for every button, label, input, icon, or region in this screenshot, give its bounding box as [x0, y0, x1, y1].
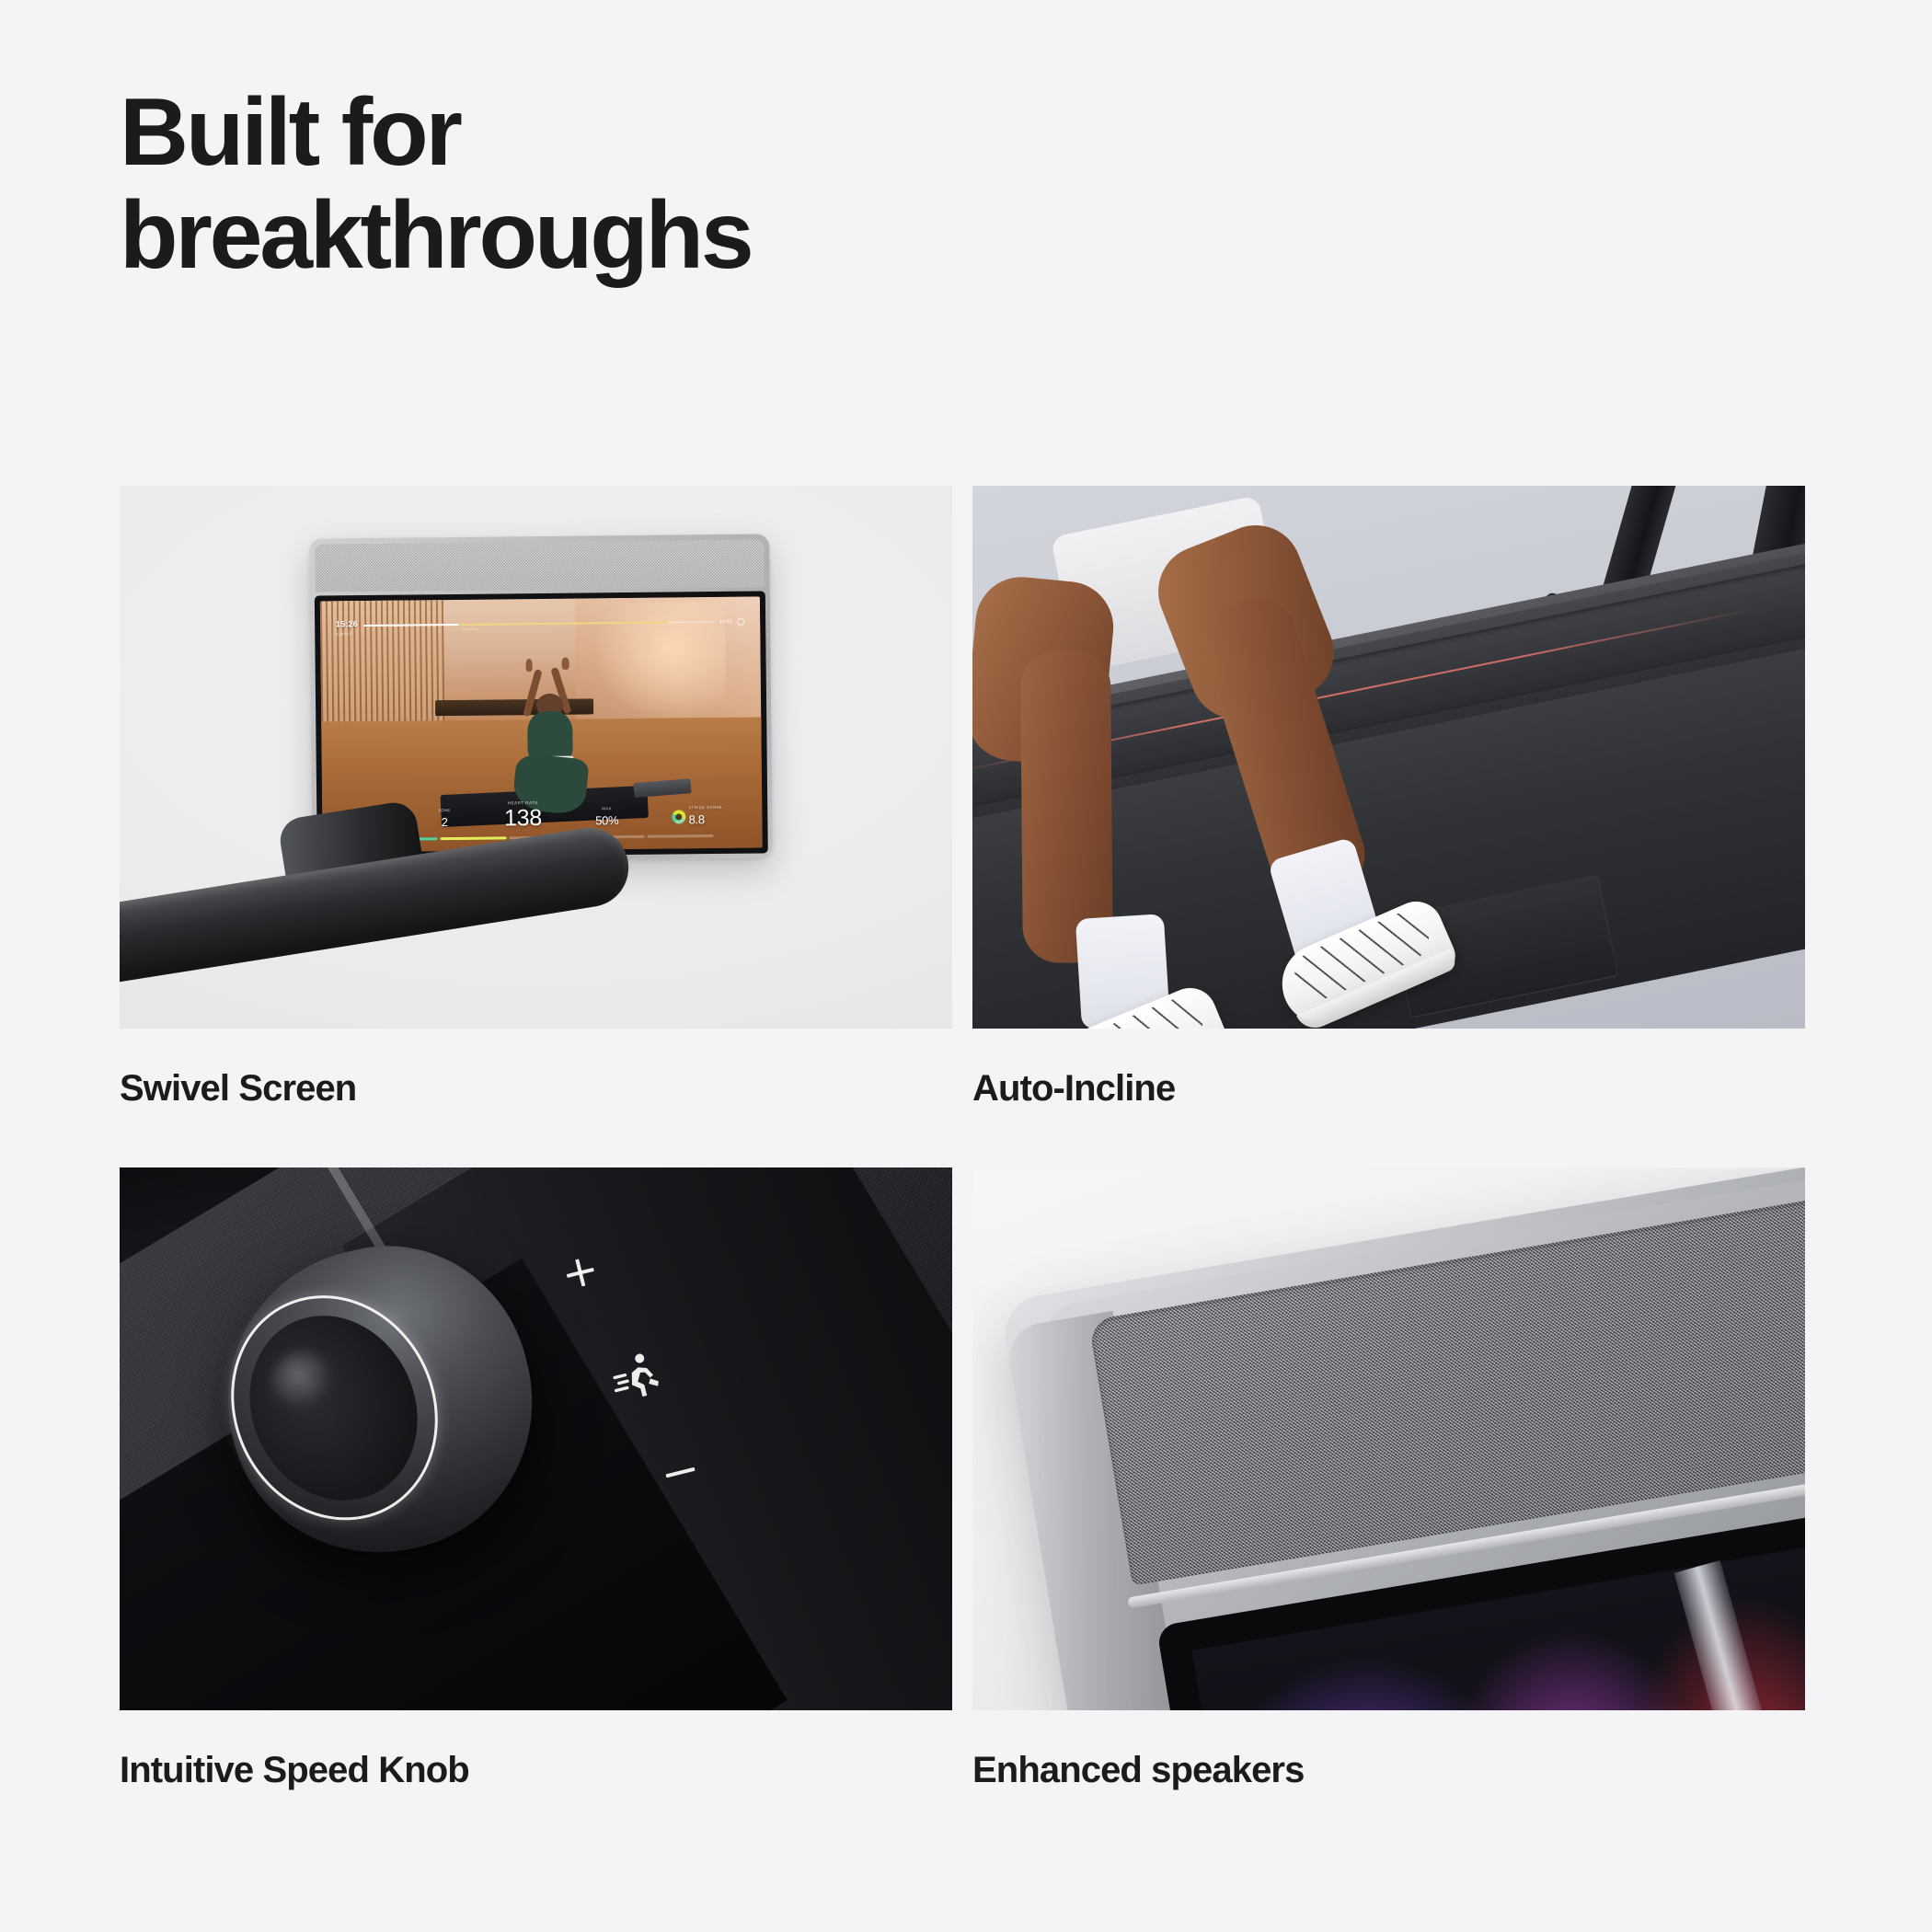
enhanced-speakers-photo	[972, 1167, 1805, 1710]
running-person-icon[interactable]	[606, 1346, 669, 1409]
page-title-line-1: Built for	[120, 85, 1224, 180]
metric-stride-score-label: STRIDE SCORE	[688, 805, 722, 810]
runner-legs	[972, 592, 1577, 1029]
instructor-hand-left	[525, 659, 533, 672]
metric-stride-score-value: 8.8	[688, 812, 704, 826]
swivel-arm-mount	[120, 759, 704, 1029]
plus-icon[interactable]	[564, 1256, 597, 1289]
workout-progress-bar: 15:26 ELAPSED Floor Flow 10:46	[336, 611, 745, 637]
metric-stride-score: STRIDE SCORE 8.8	[672, 805, 722, 829]
page-title-line-2: breakthroughs	[120, 188, 1224, 283]
swivel-screen-photo: 15:26 ELAPSED Floor Flow 10:46	[120, 486, 952, 1029]
feature-caption-auto-incline: Auto-Incline	[972, 1068, 1805, 1109]
feature-card-enhanced-speakers[interactable]: Enhanced speakers	[972, 1167, 1805, 1790]
feature-card-auto-incline[interactable]: Auto-Incline	[972, 486, 1805, 1109]
auto-incline-photo	[972, 486, 1805, 1029]
feature-caption-enhanced-speakers: Enhanced speakers	[972, 1750, 1805, 1790]
feature-grid: 15:26 ELAPSED Floor Flow 10:46	[120, 486, 1805, 1790]
console-speaker-unit	[999, 1167, 1805, 1710]
page-title: Built for breakthroughs	[120, 85, 1224, 283]
progress-segment-label: Floor Flow	[462, 627, 478, 630]
tablet-speaker-grille	[315, 539, 765, 592]
treadmill-deck	[972, 536, 1805, 1029]
runner-calf-back	[1020, 650, 1113, 963]
progress-track[interactable]: Floor Flow	[363, 621, 714, 627]
feature-caption-speed-knob: Intuitive Speed Knob	[120, 1750, 952, 1790]
feature-caption-swivel-screen: Swivel Screen	[120, 1068, 952, 1109]
progress-current-segment	[458, 621, 669, 625]
progress-elapsed	[363, 623, 458, 626]
screen-clock: 10:46	[719, 618, 732, 624]
minus-icon[interactable]	[666, 1467, 696, 1478]
feature-card-speed-knob[interactable]: Intuitive Speed Knob	[120, 1167, 952, 1790]
workout-timer: 15:26 ELAPSED	[336, 615, 358, 636]
workout-timer-label: ELAPSED	[336, 632, 358, 636]
feature-card-swivel-screen[interactable]: 15:26 ELAPSED Floor Flow 10:46	[120, 486, 952, 1109]
feature-highlights-page: Built for breakthroughs	[0, 0, 1932, 1932]
speed-knob-photo	[120, 1167, 952, 1710]
settings-circle-icon[interactable]	[737, 617, 744, 625]
stride-score-text: STRIDE SCORE 8.8	[688, 805, 722, 828]
instructor-hand-right	[562, 657, 569, 670]
workout-timer-value: 15:26	[336, 619, 358, 628]
